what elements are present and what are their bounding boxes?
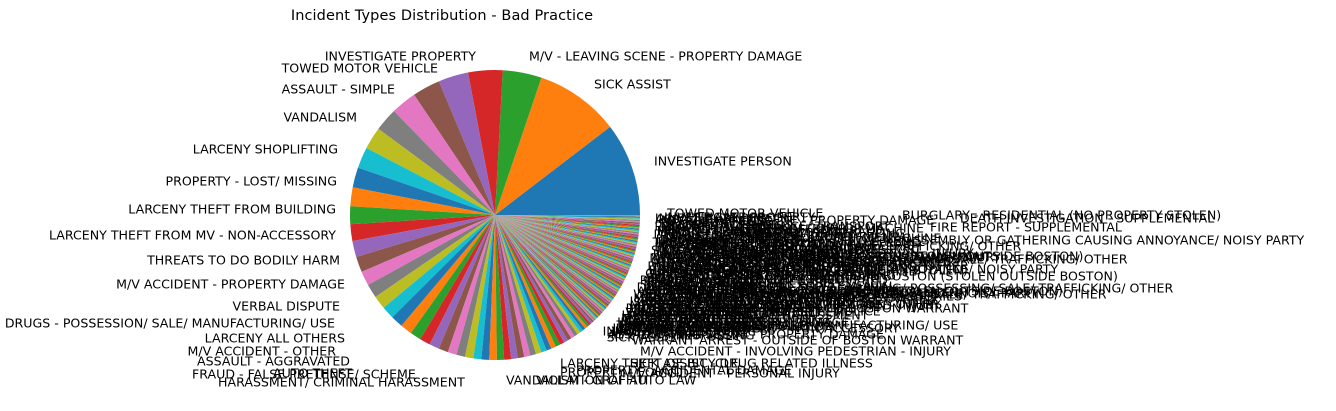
overplotted-label: ASSAULT - SIMPLE	[655, 213, 768, 226]
overplotted-label: PROPERTY - ACCIDENTAL DAMAGE	[576, 365, 792, 378]
overplotted-label-mass: BURGLARY - RESIDENTIAL (NO PROPERTY STOL…	[0, 0, 1336, 411]
chart-figure: Incident Types Distribution - Bad Practi…	[0, 0, 1336, 411]
